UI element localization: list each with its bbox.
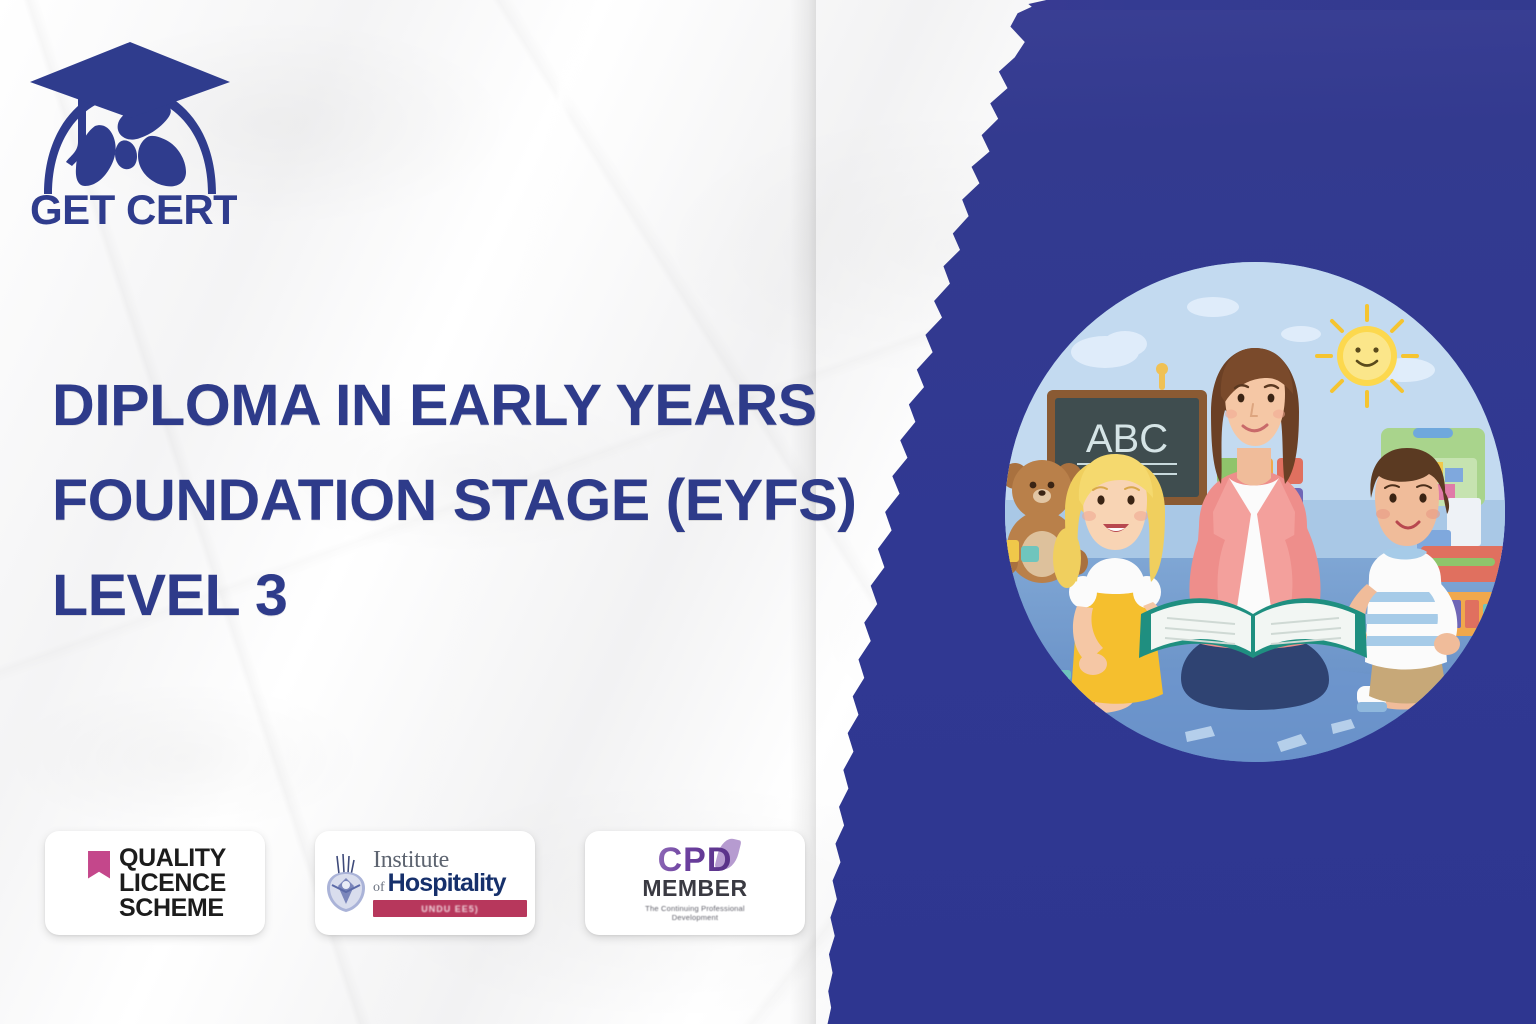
badge-institute-of-hospitality[interactable]: Institute of Hospitality UNDU EE5) [315, 831, 535, 935]
qls-line-1: QUALITY [119, 846, 226, 871]
badge-cpd-member[interactable]: CPD MEMBER The Continuing Professional D… [585, 831, 805, 935]
cpd-sub-1: The Continuing Professional [645, 904, 745, 913]
illustration-teacher-reading-to-children: ABC [985, 262, 1525, 782]
bookmark-icon [88, 851, 110, 879]
accreditation-badges: QUALITY LICENCE SCHEME [45, 831, 805, 935]
logo-wordmark: GET CERTIFY [30, 186, 237, 230]
title-line-1: DIPLOMA IN EARLY YEARS [52, 358, 888, 453]
badge-quality-licence-scheme[interactable]: QUALITY LICENCE SCHEME [45, 831, 265, 935]
cpd-sub-2: Development [645, 913, 745, 922]
title-line-2: FOUNDATION STAGE (EYFS) [52, 453, 888, 548]
brand-logo[interactable]: GET CERTIFY [22, 34, 237, 230]
sun-icon [1317, 306, 1417, 406]
cpd-line-2: MEMBER [642, 876, 747, 901]
ioh-of: of [373, 880, 385, 896]
course-banner: GET CERTIFY DIPLOMA IN EARLY YEARS FOUND… [0, 0, 1536, 1024]
ioh-tagline-bar: UNDU EE5) [373, 900, 527, 917]
qls-line-2: LICENCE [119, 871, 226, 896]
ioh-line-1: Institute [373, 849, 449, 871]
qls-line-3: SCHEME [119, 896, 226, 921]
graduation-cap-globe-icon: GET CERTIFY [22, 34, 237, 230]
floor-toy-right [1461, 666, 1503, 700]
ioh-tagline-text: UNDU EE5) [421, 904, 479, 914]
ioh-line-2: Hospitality [388, 871, 506, 896]
title-line-3: LEVEL 3 [52, 548, 888, 643]
cpd-line-1: CPD [658, 844, 733, 876]
heraldic-crest-icon [323, 852, 369, 914]
page-title: DIPLOMA IN EARLY YEARS FOUNDATION STAGE … [52, 358, 872, 643]
chalkboard-text: ABC [1086, 417, 1168, 461]
